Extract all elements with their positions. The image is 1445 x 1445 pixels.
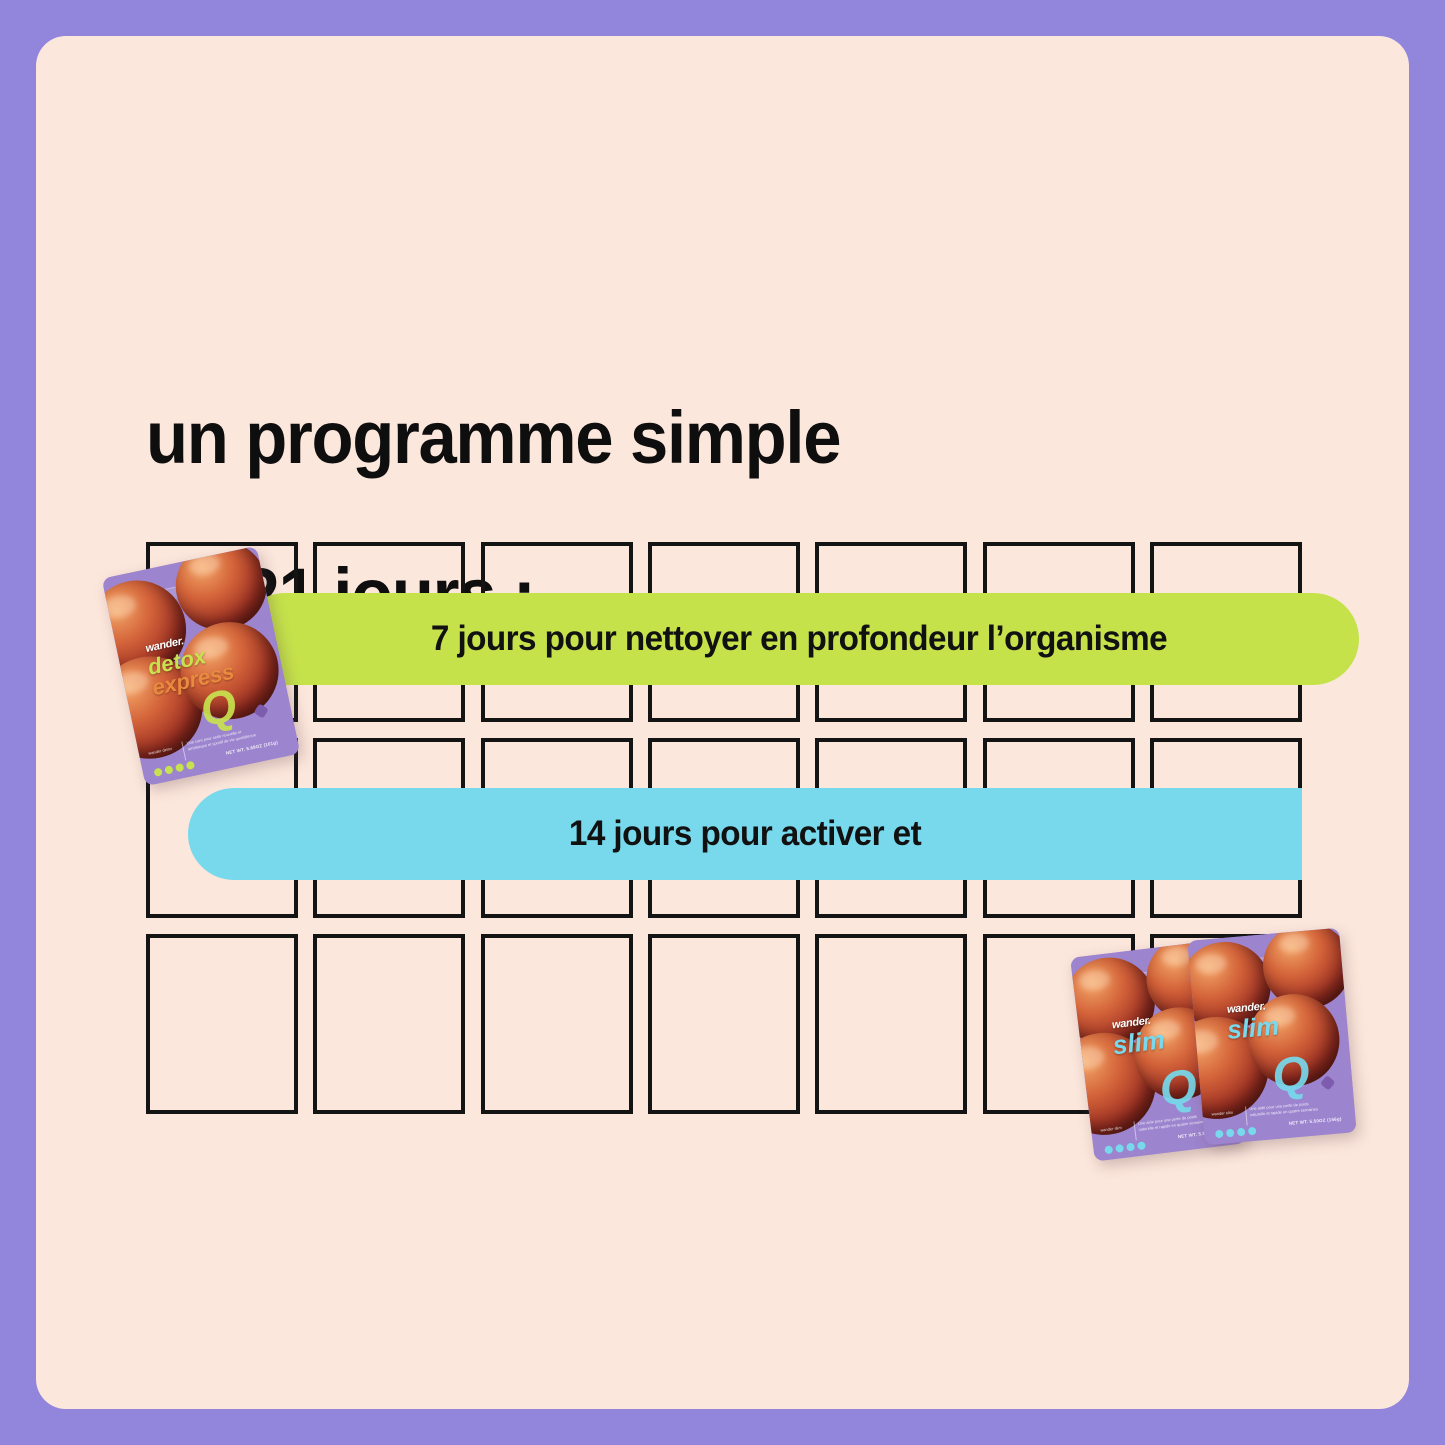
pouch-description: Une aide pour une perte de poids naturel…: [1138, 1113, 1209, 1133]
pouch-dot: [186, 761, 195, 770]
program-bar-activate-label: 14 jours pour activer et: [216, 814, 1274, 854]
pouch-dot: [1137, 1141, 1146, 1150]
pouch-dot: [1247, 1126, 1256, 1135]
program-bar-cleanse-label: 7 jours pour nettoyer en profondeur l’or…: [267, 619, 1331, 659]
product-pouch-slim-front: wander. slim Q wander slim Une aide pour…: [1187, 928, 1356, 1145]
pouch-dot: [175, 763, 184, 772]
pouch-net-weight: NET WT. 5.50OZ (156g): [1288, 1116, 1341, 1126]
pouch-dot: [1126, 1142, 1135, 1151]
content-card: un programme simple de 21 jours :: [36, 36, 1409, 1409]
pouch-artwork-slim-front: wander. slim Q wander slim Une aide pour…: [1187, 928, 1356, 1145]
page-title-line-1: un programme simple: [146, 399, 1076, 477]
program-bar-cleanse: 7 jours pour nettoyer en profondeur l’or…: [239, 593, 1359, 685]
pouch-description: Une aide pour une perte de poids naturel…: [1249, 1100, 1320, 1118]
pouch-dot-indicators: [1104, 1141, 1146, 1154]
day-cell: [313, 934, 465, 1114]
pouch-side-label: wander slim: [1211, 1109, 1239, 1117]
pouch-heart-icon: [1320, 1075, 1335, 1090]
pouch-dot: [1226, 1128, 1235, 1137]
pouch-q-mark-icon: Q: [1270, 1050, 1311, 1101]
day-cell: [815, 934, 967, 1114]
pouch-dot: [1236, 1127, 1245, 1136]
pouch-product-name: slim: [1111, 1027, 1166, 1058]
pouch-dot: [153, 768, 162, 777]
day-cell: [648, 934, 800, 1114]
pouch-dot-indicators: [153, 761, 195, 777]
pouch-dot: [164, 765, 173, 774]
poster-canvas: un programme simple de 21 jours :: [0, 0, 1445, 1445]
pouch-dot: [1115, 1144, 1124, 1153]
pouch-product-name: slim: [1226, 1013, 1280, 1042]
day-cell: [146, 934, 298, 1114]
pouch-dot-indicators: [1215, 1126, 1257, 1138]
pouch-dot: [1104, 1145, 1113, 1154]
pouch-q-mark-icon: Q: [1157, 1063, 1200, 1115]
day-cell: [481, 934, 633, 1114]
pouch-dot: [1215, 1129, 1224, 1138]
program-bar-activate: 14 jours pour activer et: [188, 788, 1302, 880]
